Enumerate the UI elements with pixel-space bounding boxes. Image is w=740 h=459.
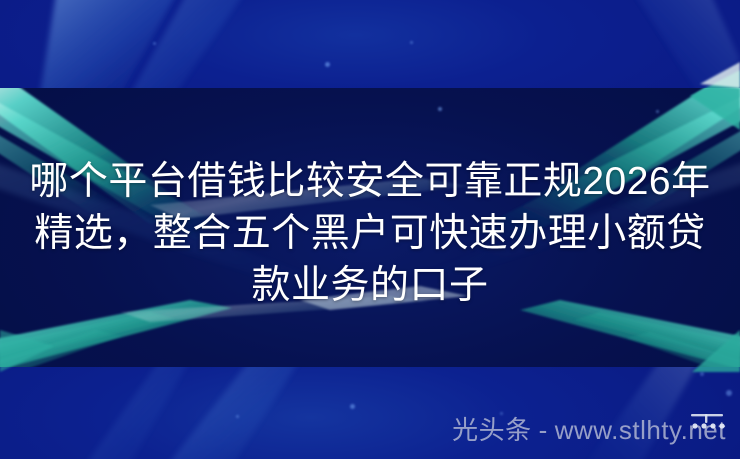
- sparkle-dot: [153, 42, 156, 45]
- sparkle-dot: [350, 404, 355, 409]
- sparkle-dot: [700, 372, 704, 376]
- cover-banner: 哪个平台借钱比较安全可靠正规2026年精选，整合五个黑户可快速办理小额贷款业务的…: [0, 0, 740, 459]
- streaks-lower-right: [520, 300, 740, 392]
- sparkle-dot: [656, 110, 659, 113]
- streaks-top: [40, 0, 740, 95]
- sparkle-dot: [438, 107, 442, 111]
- sparkle-dot: [726, 390, 732, 396]
- sparkle-dot: [236, 415, 239, 418]
- headline-text: 哪个平台借钱比较安全可靠正规2026年精选，整合五个黑户可快速办理小额贷款业务的…: [0, 156, 740, 312]
- sparkle-dot: [325, 62, 330, 67]
- watermark-separator: -: [532, 415, 555, 445]
- sparkle-dot: [410, 41, 413, 44]
- watermark: 光头条 - www.stlhty.net: [452, 415, 726, 445]
- watermark-brand: 光头条: [452, 415, 532, 445]
- watermark-site-url: www.stlhty.net: [555, 415, 726, 445]
